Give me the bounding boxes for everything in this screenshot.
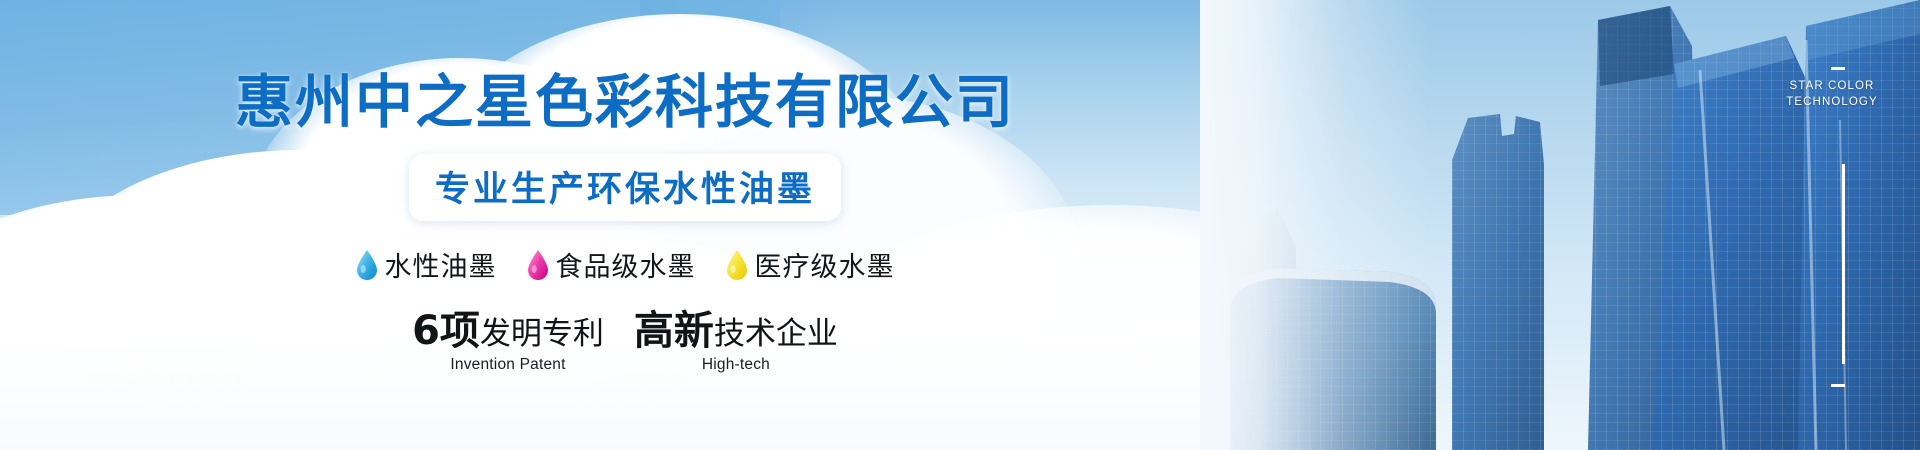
water-drop-icon [726,249,748,280]
feature-label: 医疗级水墨 [755,245,895,284]
accent-tick-top [1831,67,1845,70]
feature-item: 食品级水墨 [527,245,696,284]
badge-en-line: High-tech [634,356,838,374]
promo-banner: Star Color [0,0,1920,450]
badge-cn-emphasis: 高新 [634,308,714,354]
water-drop-icon [527,249,549,280]
building-brand-line2: TECHNOLOGY [1762,94,1902,110]
feature-item: 水性油墨 [356,245,497,284]
skyscraper-photo: STAR COLOR TECHNOLOGY [1200,0,1920,450]
credential-badges: 6项发明专利 Invention Patent 高新技术企业 High-tech [412,311,838,374]
feature-label: 食品级水墨 [556,245,696,284]
badge-invention-patent: 6项发明专利 Invention Patent [412,311,604,374]
accent-rule-vertical [1842,164,1845,364]
badge-cn-line: 6项发明专利 [412,311,604,354]
badge-en-line: Invention Patent [412,356,604,374]
badge-cn-emphasis: 6项 [412,308,480,354]
water-drop-icon [356,249,378,280]
subtitle-pill: 专业生产环保水性油墨 [409,154,841,221]
banner-content: 惠州中之星色彩科技有限公司 专业生产环保水性油墨 水性油墨 [0,0,1250,450]
city-skyline [1200,0,1920,450]
badge-cn-rest: 技术企业 [714,316,838,352]
badge-cn-line: 高新技术企业 [634,311,838,354]
feature-item: 医疗级水墨 [726,245,895,284]
subtitle-text: 专业生产环保水性油墨 [435,170,815,210]
company-title: 惠州中之星色彩科技有限公司 [235,55,1015,139]
badge-cn-rest: 发明专利 [480,316,604,352]
badge-high-tech: 高新技术企业 High-tech [634,311,838,374]
building-brand-line1: STAR COLOR [1762,78,1902,94]
building-brand-label: STAR COLOR TECHNOLOGY [1762,78,1902,110]
feature-label: 水性油墨 [385,245,497,284]
accent-tick-bottom [1831,384,1845,387]
feature-list: 水性油墨 食品级水墨 [356,245,895,284]
